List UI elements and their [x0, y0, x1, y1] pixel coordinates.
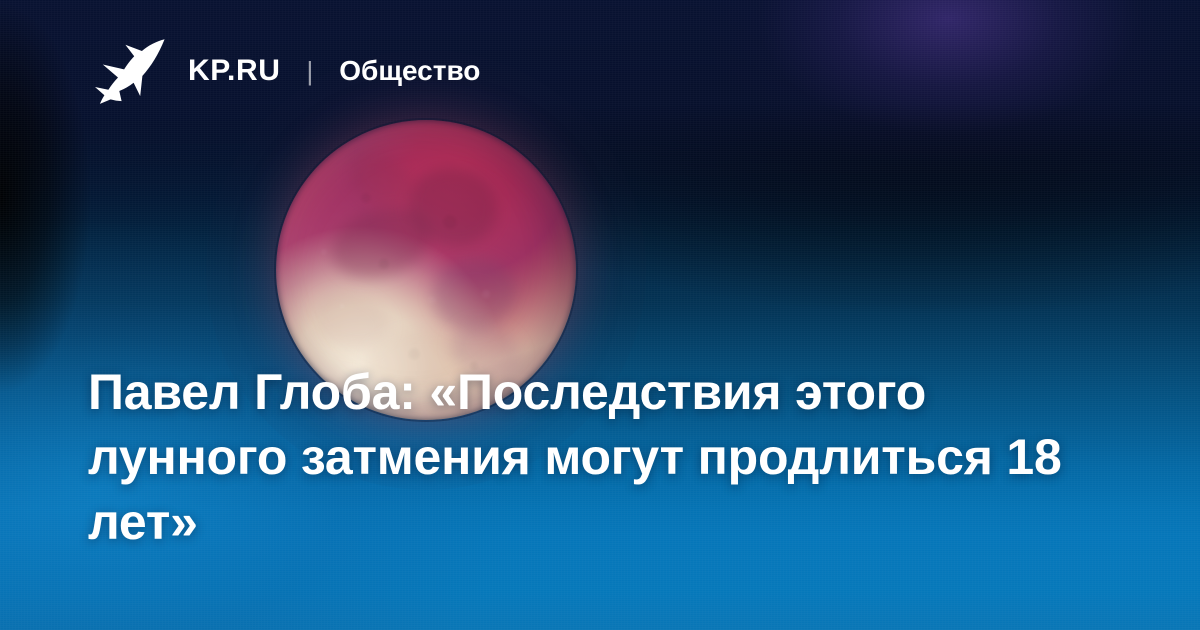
article-headline: Павел Глоба: «Последствия этого лунного … [88, 360, 1098, 555]
header-divider: | [302, 58, 317, 84]
rubric-label[interactable]: Общество [339, 57, 480, 85]
brand-name[interactable]: KP.RU [188, 56, 280, 86]
kp-swallow-bird-logo-icon[interactable] [94, 38, 166, 104]
card-header: KP.RU | Общество [94, 38, 480, 104]
social-share-card: KP.RU | Общество Павел Глоба: «Последств… [0, 0, 1200, 630]
